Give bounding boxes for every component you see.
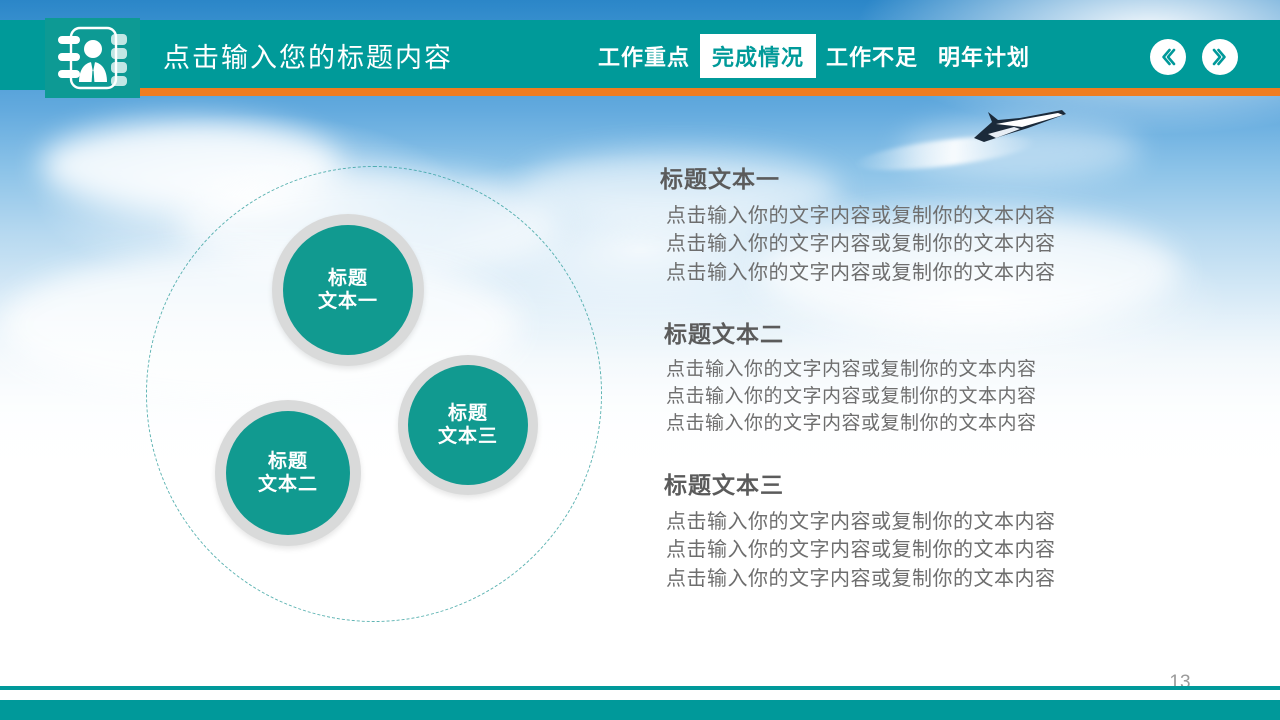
content-line: 点击输入你的文字内容或复制你的文本内容 xyxy=(666,230,1220,258)
bubble-label-line2: 文本二 xyxy=(258,474,318,495)
bubble-label-line2: 文本三 xyxy=(438,426,498,447)
bubble-label-line1: 标题 xyxy=(268,451,308,472)
content-line: 点击输入你的文字内容或复制你的文本内容 xyxy=(666,565,1220,593)
content-title-1: 标题文本一 xyxy=(660,160,1220,194)
bubble-item-2[interactable]: 标题 文本二 xyxy=(215,400,361,546)
content-block-3: 标题文本三 点击输入你的文字内容或复制你的文本内容 点击输入你的文字内容或复制你… xyxy=(660,466,1220,593)
content-line: 点击输入你的文字内容或复制你的文本内容 xyxy=(666,202,1220,230)
footer-bar xyxy=(0,700,1280,720)
bubble-diagram: 标题 文本一 标题 文本二 标题 文本三 xyxy=(140,160,610,630)
bubble-item-3[interactable]: 标题 文本三 xyxy=(398,355,538,495)
bubble-label-2: 标题 文本二 xyxy=(258,450,318,496)
content-body-2: 点击输入你的文字内容或复制你的文本内容 点击输入你的文字内容或复制你的文本内容 … xyxy=(660,357,1220,438)
content-column: 标题文本一 点击输入你的文字内容或复制你的文本内容 点击输入你的文字内容或复制你… xyxy=(660,160,1220,621)
footer-rule xyxy=(0,686,1280,690)
page-title: 点击输入您的标题内容 xyxy=(163,36,453,75)
content-title-2: 标题文本二 xyxy=(664,315,1220,349)
content-block-1: 标题文本一 点击输入你的文字内容或复制你的文本内容 点击输入你的文字内容或复制你… xyxy=(660,160,1220,287)
content-line: 点击输入你的文字内容或复制你的文本内容 xyxy=(666,508,1220,536)
tab-gongzuozhongdian[interactable]: 工作重点 xyxy=(588,35,700,77)
bubble-label-line1: 标题 xyxy=(448,403,488,424)
page-number: 13 xyxy=(1150,672,1210,694)
bubble-label-line1: 标题 xyxy=(328,268,368,289)
chevron-right-icon xyxy=(1209,46,1231,68)
address-book-icon xyxy=(55,24,131,92)
content-line: 点击输入你的文字内容或复制你的文本内容 xyxy=(666,357,1220,384)
next-button[interactable] xyxy=(1202,39,1238,75)
chevron-left-icon xyxy=(1157,46,1179,68)
content-block-2: 标题文本二 点击输入你的文字内容或复制你的文本内容 点击输入你的文字内容或复制你… xyxy=(660,315,1220,438)
accent-underline xyxy=(140,88,1280,96)
content-line: 点击输入你的文字内容或复制你的文本内容 xyxy=(666,384,1220,411)
bubble-core: 标题 文本一 xyxy=(283,225,413,355)
tab-mingnianjihua[interactable]: 明年计划 xyxy=(928,35,1040,77)
prev-button[interactable] xyxy=(1150,39,1186,75)
slide-canvas: 点击输入您的标题内容 工作重点 完成情况 工作不足 明年计划 标题 文本一 xyxy=(0,0,1280,720)
nav-tabs: 工作重点 完成情况 工作不足 明年计划 xyxy=(588,36,1040,76)
airplane-icon xyxy=(962,108,1072,148)
bubble-item-1[interactable]: 标题 文本一 xyxy=(272,214,424,366)
content-line: 点击输入你的文字内容或复制你的文本内容 xyxy=(666,411,1220,438)
content-line: 点击输入你的文字内容或复制你的文本内容 xyxy=(666,259,1220,287)
tab-gongzuobuzu[interactable]: 工作不足 xyxy=(816,35,928,77)
bubble-label-line2: 文本一 xyxy=(318,291,378,312)
bubble-label-3: 标题 文本三 xyxy=(438,402,498,448)
content-title-3: 标题文本三 xyxy=(664,466,1220,500)
bubble-core: 标题 文本三 xyxy=(408,365,528,485)
content-body-3: 点击输入你的文字内容或复制你的文本内容 点击输入你的文字内容或复制你的文本内容 … xyxy=(660,508,1220,593)
content-line: 点击输入你的文字内容或复制你的文本内容 xyxy=(666,536,1220,564)
bubble-core: 标题 文本二 xyxy=(226,411,350,535)
tab-wanchengqingkuang[interactable]: 完成情况 xyxy=(700,34,816,78)
bubble-label-1: 标题 文本一 xyxy=(318,267,378,313)
content-body-1: 点击输入你的文字内容或复制你的文本内容 点击输入你的文字内容或复制你的文本内容 … xyxy=(660,202,1220,287)
